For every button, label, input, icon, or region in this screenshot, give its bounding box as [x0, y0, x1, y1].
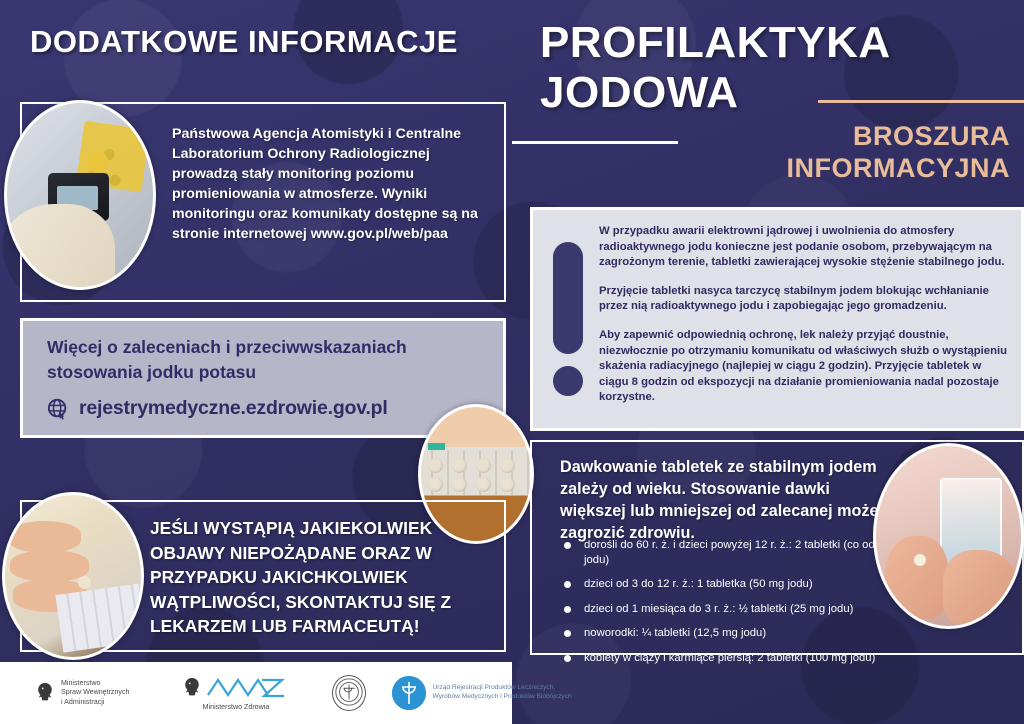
- polish-eagle-icon: [34, 681, 56, 705]
- tablet: [78, 576, 91, 589]
- subtitle-line-2: INFORMACYJNA: [540, 152, 1010, 184]
- title-line-1: PROFILAKTYKA: [540, 18, 1010, 68]
- page-title: PROFILAKTYKA JODOWA: [540, 18, 1010, 118]
- warning-text: JEŚLI WYSTĄPIĄ JAKIEKOLWIEK OBJAWY NIEPO…: [150, 516, 500, 639]
- left-hand: [885, 536, 949, 619]
- pharmacy-seal-icon: [332, 675, 366, 711]
- more-info-box: Więcej o zaleceniach i przeciwwskazaniac…: [20, 318, 506, 438]
- dosing-lead-text: Dawkowanie tabletek ze stabilnym jodem z…: [560, 456, 890, 544]
- list-item: noworodki: ¼ tabletki (12,5 mg jodu): [554, 626, 964, 641]
- polish-eagle-icon: [181, 676, 203, 700]
- notice-paragraph: Przyjęcie tabletki nasyca tarczycę stabi…: [599, 284, 1007, 315]
- ministerstwo-spraw-wewnetrznych-logo: Ministerstwo Spraw Wewnętrznych i Admini…: [34, 679, 129, 707]
- subtitle-line-1: BROSZURA: [540, 120, 1010, 152]
- blister-pack: [56, 583, 144, 652]
- notice-text: W przypadku awarii elektrowni jądrowej i…: [599, 224, 1007, 419]
- page-subtitle: BROSZURA INFORMACYJNA: [540, 120, 1010, 184]
- msw-logo-text: Ministerstwo Spraw Wewnętrznych i Admini…: [61, 679, 129, 707]
- radiation-meter-photo: [4, 100, 156, 290]
- notice-box: W przypadku awarii elektrowni jądrowej i…: [530, 207, 1024, 431]
- mz-wave-icon: [206, 675, 290, 701]
- subtitle-rule-peach: [818, 100, 1024, 103]
- hand-with-glass-of-water-photo: [873, 443, 1024, 629]
- notice-paragraph: Aby zapewnić odpowiednią ochronę, lek na…: [599, 328, 1007, 406]
- additional-info-text: Państwowa Agencja Atomistyki i Centralne…: [172, 124, 492, 244]
- urpl-badge-icon: [392, 676, 426, 710]
- more-info-url[interactable]: rejestrymedyczne.ezdrowie.gov.pl: [79, 397, 388, 420]
- brochure-page: DODATKOWE INFORMACJE Państwowa Agencja A…: [0, 0, 1024, 724]
- list-item: kobiety w ciąży i karmiące piersią: 2 ta…: [554, 651, 964, 666]
- gloved-hand: [4, 204, 115, 290]
- ministerstwo-zdrowia-logo: Ministerstwo Zdrowia: [181, 675, 290, 711]
- more-info-url-row[interactable]: rejestrymedyczne.ezdrowie.gov.pl: [47, 397, 388, 420]
- urpl-logo-text: Urząd Rejestracji Produktów Leczniczych,…: [432, 684, 571, 702]
- more-info-title: Więcej o zaleceniach i przeciwwskazaniac…: [47, 335, 487, 385]
- footer-logo-bar: Ministerstwo Spraw Wewnętrznych i Admini…: [0, 662, 512, 724]
- notice-paragraph: W przypadku awarii elektrowni jądrowej i…: [599, 224, 1007, 271]
- hand-holding-tablet-photo: [2, 492, 144, 660]
- tablet: [914, 554, 926, 566]
- globe-icon: [47, 398, 69, 420]
- title-line-2: JODOWA: [540, 68, 1010, 118]
- exclamation-icon: [553, 242, 587, 396]
- urpl-logo: Urząd Rejestracji Produktów Leczniczych,…: [392, 676, 571, 710]
- mz-caption: Ministerstwo Zdrowia: [203, 703, 270, 711]
- left-heading: DODATKOWE INFORMACJE: [30, 24, 500, 60]
- right-hand: [943, 550, 1018, 626]
